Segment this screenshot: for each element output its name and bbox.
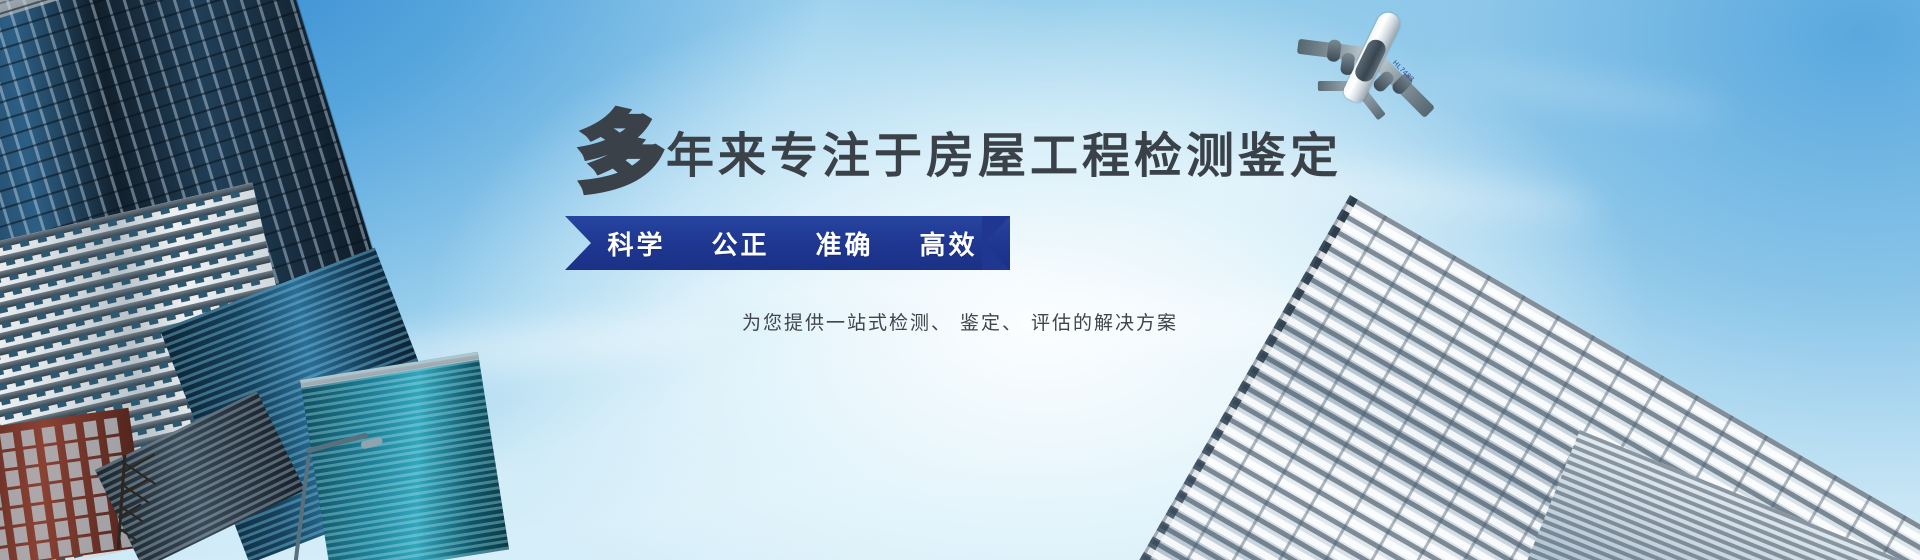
- banner-stage: HL7483 多 年来专注于房屋工程检测鉴定 科学 公正 准确 高效 为您提供一…: [0, 0, 1920, 560]
- banner-headline: 多 年来专注于房屋工程检测鉴定: [0, 108, 1920, 182]
- banner-content: 多 年来专注于房屋工程检测鉴定 科学 公正 准确 高效 为您提供一站式检测、 鉴…: [0, 0, 1920, 560]
- ribbon-word: 公正: [711, 225, 769, 262]
- headline-lead-char: 多: [578, 118, 664, 192]
- ribbon-word: 准确: [816, 225, 874, 262]
- banner-subtitle: 为您提供一站式检测、 鉴定、 评估的解决方案: [0, 308, 1920, 335]
- headline-rest: 年来专注于房屋工程检测鉴定: [666, 132, 1342, 180]
- ribbon-word: 科学: [607, 225, 665, 262]
- ribbon-words: 科学 公正 准确 高效: [565, 216, 1010, 270]
- slogan-ribbon: 科学 公正 准确 高效: [565, 216, 1010, 270]
- ribbon-word: 高效: [920, 225, 978, 262]
